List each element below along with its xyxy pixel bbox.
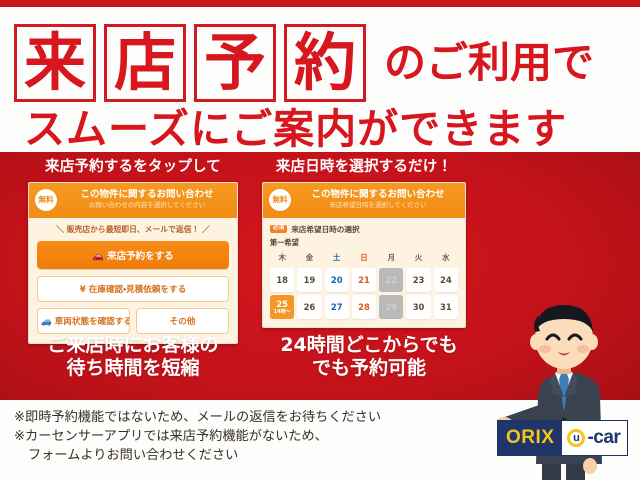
calendar-header-subtitle: 来店希望日時を選択してください — [297, 201, 459, 209]
required-badge: 必須 — [270, 225, 287, 234]
calendar-day-cell[interactable]: 2514時〜 — [270, 295, 294, 319]
stock-quote-label: 在庫確認・見積依頼をする — [89, 285, 186, 295]
mockup-header-subtitle: お問い合わせの内容を選択してください — [63, 201, 231, 209]
calendar-day-cell[interactable]: 20 — [325, 268, 349, 292]
calendar-day-number: 18 — [276, 275, 288, 285]
other-button[interactable]: その他 — [136, 308, 229, 334]
calendar-day-number: 24 — [440, 275, 452, 285]
calendar-day-time: 14時〜 — [274, 310, 291, 315]
calendar-day-cell: 29 — [379, 295, 403, 319]
calendar-day-number: 20 — [331, 275, 343, 285]
calendar-day-cell[interactable]: 30 — [406, 295, 430, 319]
calendar-dow-header: 月 — [379, 252, 403, 265]
calendar-dow-header: 火 — [406, 252, 430, 265]
calendar-dow-header: 日 — [352, 252, 376, 265]
ucar-wordmark: u -car — [562, 421, 627, 455]
calendar-grid[interactable]: 木金土日月火水181920212223242514時〜262728293031 — [270, 252, 458, 319]
calendar-section-label: 来店希望日時の選択 — [291, 224, 359, 235]
feature-band: 来店予約するをタップして 無料 この物件に関するお問い合わせ お問い合わせの内容… — [0, 152, 640, 400]
calendar-day-cell: 22 — [379, 268, 403, 292]
calendar-day-number: 28 — [358, 302, 370, 312]
left-caption-line-2: 待ち時間を短縮 — [8, 357, 258, 380]
free-badge: 無料 — [35, 189, 57, 211]
reserve-visit-button[interactable]: 🚗来店予約をする — [37, 241, 229, 269]
top-red-rule — [0, 0, 640, 7]
calendar-dow-header: 木 — [270, 252, 294, 265]
calendar-day-number: 26 — [304, 302, 316, 312]
calendar-day-cell[interactable]: 31 — [434, 295, 458, 319]
calendar-day-cell[interactable]: 21 — [352, 268, 376, 292]
headline-kanji-4: 約 — [284, 24, 366, 102]
calendar-day-number: 23 — [413, 275, 425, 285]
calendar-day-cell[interactable]: 26 — [297, 295, 321, 319]
calendar-day-number: 21 — [358, 275, 370, 285]
calendar-day-number: 27 — [331, 302, 343, 312]
stock-quote-button[interactable]: ¥在庫確認・見積依頼をする — [37, 276, 229, 302]
calendar-day-cell[interactable]: 19 — [297, 268, 321, 292]
left-caption-line-1: ご来店時にお客様の — [8, 334, 258, 357]
calendar-day-cell[interactable]: 27 — [325, 295, 349, 319]
headline-line-1: 来 店 予 約 のご利用で — [14, 24, 594, 102]
headline-block: 来 店 予 約 のご利用で スムーズにご案内ができます — [0, 10, 640, 150]
footer-notes: ※即時予約機能ではないため、メールの返信をお待ちください ※カーセンサーアプリで… — [14, 408, 474, 465]
right-panel-heading: 来店日時を選択するだけ！ — [262, 160, 466, 175]
calendar-day-cell[interactable]: 28 — [352, 295, 376, 319]
reserve-visit-label: 来店予約をする — [107, 251, 174, 262]
calendar-day-number: 29 — [385, 302, 397, 312]
headline-kanji-2: 店 — [104, 24, 186, 102]
calendar-day-number: 31 — [440, 302, 452, 312]
vehicle-condition-button[interactable]: 🚙車両状態を確認する — [37, 308, 130, 334]
calendar-header-bar: 無料 この物件に関するお問い合わせ 来店希望日時を選択してください — [263, 183, 465, 218]
right-caption-line-2: でも予約可能 — [258, 357, 480, 380]
right-caption: 24時間どこからでも でも予約可能 — [258, 334, 480, 380]
vehicle-condition-label: 車両状態を確認する — [55, 317, 130, 327]
inquiry-form-mockup: 無料 この物件に関するお問い合わせ お問い合わせの内容を選択してください ＼ 販… — [28, 182, 238, 344]
calendar-header-title: この物件に関するお問い合わせ — [297, 189, 459, 200]
preference-label: 第一希望 — [270, 238, 458, 248]
free-badge: 無料 — [269, 189, 291, 211]
calendar-day-number: 25 — [276, 299, 288, 309]
calendar-mockup: 無料 この物件に関するお問い合わせ 来店希望日時を選択してください 必須 来店希… — [262, 182, 466, 328]
reservation-promo-banner: 来 店 予 約 のご利用で スムーズにご案内ができます 来店予約するをタップして… — [0, 0, 640, 480]
right-caption-line-1: 24時間どこからでも — [258, 334, 480, 357]
calendar-day-cell[interactable]: 24 — [434, 268, 458, 292]
calendar-dow-header: 土 — [325, 252, 349, 265]
footer-note-3: フォームよりお問い合わせください — [14, 446, 474, 465]
car-front-icon: 🚙 — [41, 317, 52, 327]
headline-line-2: スムーズにご案内ができます — [24, 109, 567, 150]
calendar-dow-header: 水 — [434, 252, 458, 265]
reply-promise-note: ＼ 販売店から最短即日、メールで返信！ ／ — [37, 225, 229, 234]
orix-wordmark: ORIX — [498, 421, 562, 455]
headline-tail-text: のご利用で — [384, 42, 594, 84]
left-feature-panel: 来店予約するをタップして 無料 この物件に関するお問い合わせ お問い合わせの内容… — [28, 160, 238, 344]
yen-icon: ¥ — [80, 285, 86, 295]
ucar-text: -car — [587, 427, 620, 449]
car-icon: 🚗 — [92, 251, 104, 262]
calendar-day-number: 30 — [413, 302, 425, 312]
u-circle-icon: u — [567, 429, 585, 447]
orix-ucar-logo: ORIX u -car — [497, 420, 628, 456]
headline-kanji-3: 予 — [194, 24, 276, 102]
footer-note-2: ※カーセンサーアプリでは来店予約機能がないため、 — [14, 427, 474, 446]
calendar-day-number: 19 — [304, 275, 316, 285]
calendar-dow-header: 金 — [297, 252, 321, 265]
calendar-day-cell[interactable]: 23 — [406, 268, 430, 292]
mockup-header-title: この物件に関するお問い合わせ — [63, 189, 231, 200]
calendar-day-cell[interactable]: 18 — [270, 268, 294, 292]
left-panel-heading: 来店予約するをタップして — [28, 160, 238, 175]
footer-note-1: ※即時予約機能ではないため、メールの返信をお待ちください — [14, 408, 474, 427]
left-caption: ご来店時にお客様の 待ち時間を短縮 — [8, 334, 258, 380]
mockup-header-bar: 無料 この物件に関するお問い合わせ お問い合わせの内容を選択してください — [29, 183, 237, 218]
right-feature-panel: 来店日時を選択するだけ！ 無料 この物件に関するお問い合わせ 来店希望日時を選択… — [262, 160, 466, 328]
headline-kanji-1: 来 — [14, 24, 96, 102]
calendar-day-number: 22 — [385, 275, 397, 285]
